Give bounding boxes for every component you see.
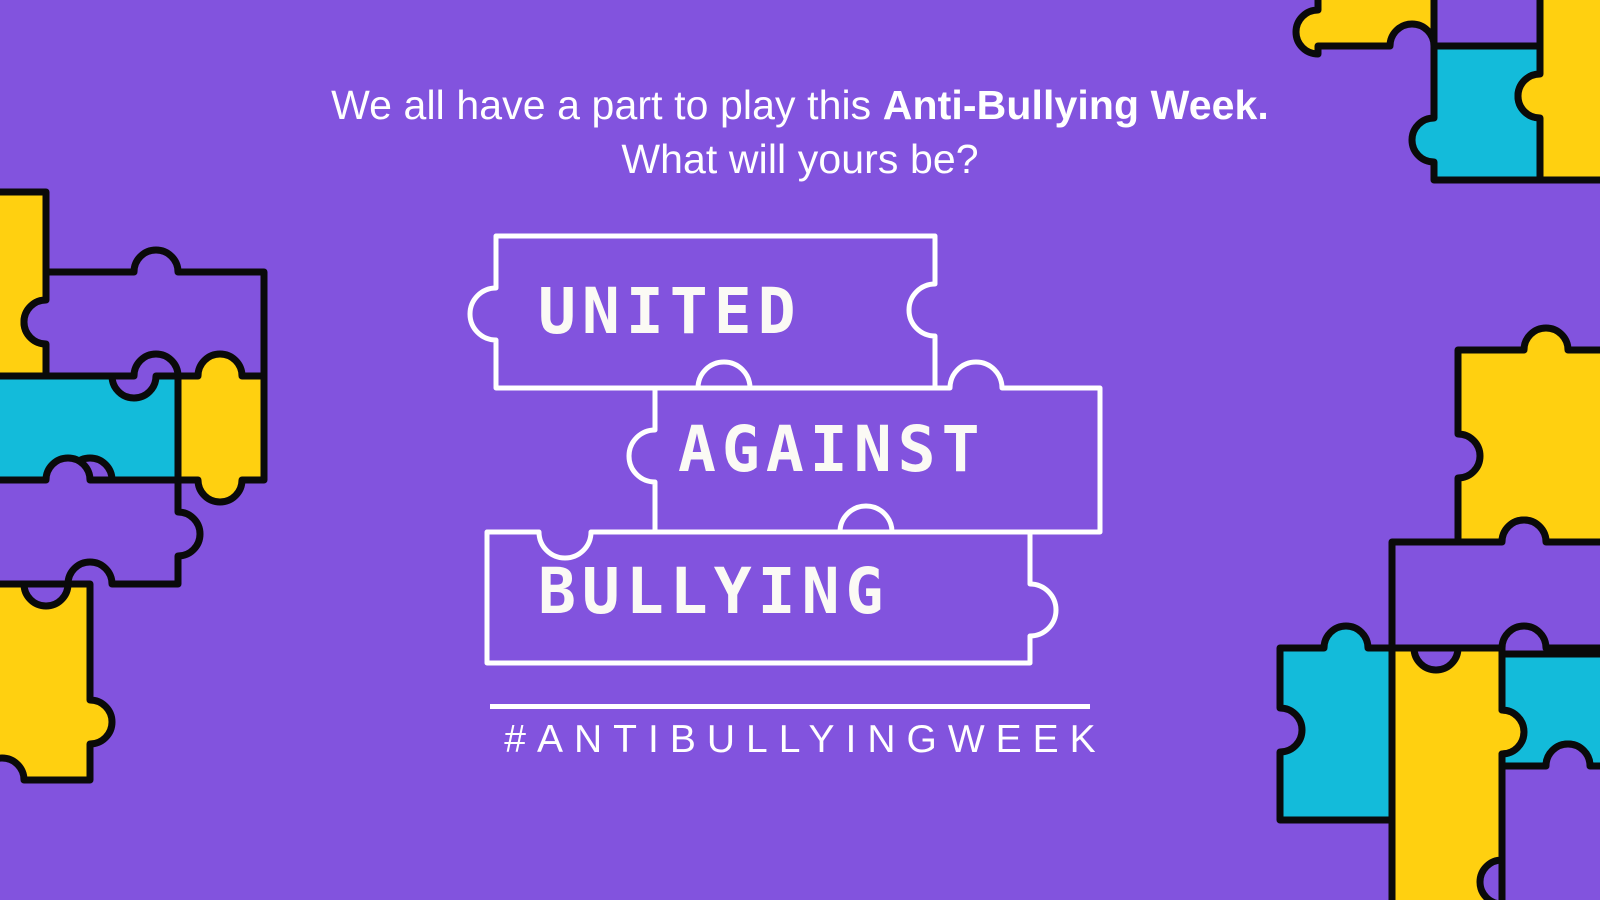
logo-word-against: AGAINST [678,413,986,486]
headline-line-1-plain: We all have a part to play this [331,82,883,128]
logo-word-united: UNITED [538,275,802,348]
logo-word-bullying: BULLYING [538,555,889,628]
anti-bullying-week-poster: We all have a part to play this Anti-Bul… [0,0,1600,900]
puzzle-piece-purple-left-1 [24,250,264,376]
united-against-bullying-logo: UNITED AGAINST BULLYING [460,225,1120,685]
headline: We all have a part to play this Anti-Bul… [0,78,1600,186]
puzzle-piece-yellow-right-1 [1458,328,1600,542]
puzzle-piece-cyan-left [0,376,178,480]
puzzle-piece-yellow-right-2 [1392,648,1524,900]
hashtag: #ANTIBULLYINGWEEK [0,718,1600,762]
headline-line-2: What will yours be? [0,132,1600,186]
puzzle-piece-purple-right-1 [1392,520,1600,648]
headline-line-1-strong: Anti-Bullying Week. [883,82,1269,128]
puzzle-piece-purple-tr-1 [1434,0,1540,46]
puzzle-piece-purple-left-2 [0,458,200,584]
headline-line-1: We all have a part to play this Anti-Bul… [0,78,1600,132]
puzzle-piece-yellow-tr-1 [1296,0,1434,54]
divider-rule [490,704,1090,709]
puzzle-piece-purple-right-2 [1480,744,1600,900]
puzzle-piece-yellow-left-2 [178,354,264,502]
puzzle-piece-yellow-left-1 [0,192,46,376]
